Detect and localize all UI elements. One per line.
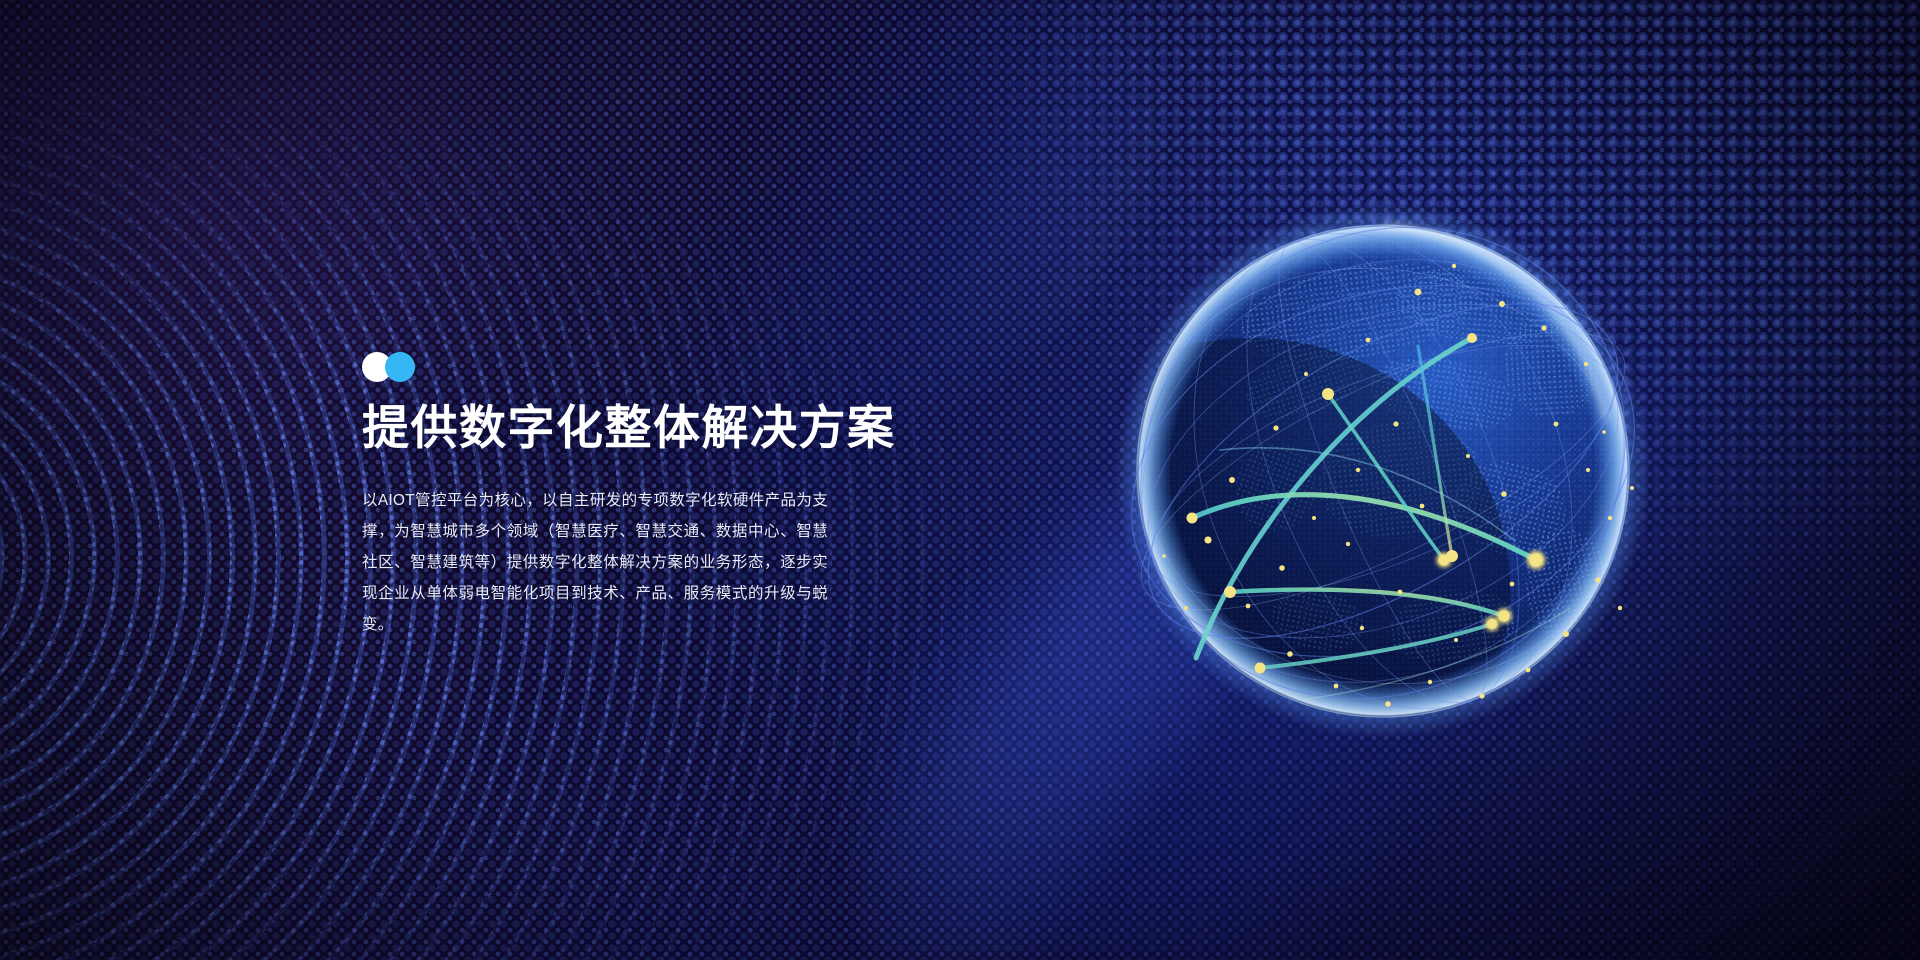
description-paragraph: 以AIOT管控平台为核心，以自主研发的专项数字化软硬件产品为支撑，为智慧城市多个… [362, 485, 828, 640]
two-overlapping-circles-icon [362, 352, 418, 382]
hero-content: 提供数字化整体解决方案 以AIOT管控平台为核心，以自主研发的专项数字化软硬件产… [362, 352, 882, 640]
globe-graphic [1100, 188, 1666, 754]
hero-banner: 提供数字化整体解决方案 以AIOT管控平台为核心，以自主研发的专项数字化软硬件产… [0, 0, 1920, 960]
digital-globe-icon [1100, 188, 1666, 754]
page-title: 提供数字化整体解决方案 [362, 404, 882, 451]
